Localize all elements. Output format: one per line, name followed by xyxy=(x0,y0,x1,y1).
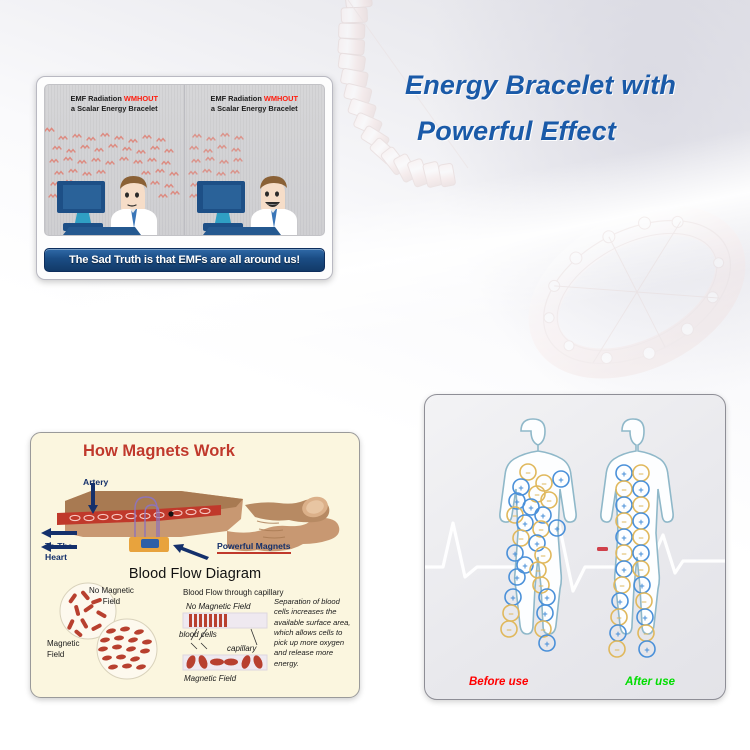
product-infographic: Energy Bracelet with Powerful Effect EMF… xyxy=(0,0,750,750)
svg-text:+: + xyxy=(621,533,626,543)
label-magnetic-field-circle: Magnetic Field xyxy=(47,639,79,660)
svg-text:−: − xyxy=(506,625,511,635)
emf-banner-text: The Sad Truth is that EMFs are all aroun… xyxy=(69,254,300,266)
emf-left-illustration xyxy=(45,131,185,235)
svg-text:+: + xyxy=(617,597,622,607)
emf-right-title-highlight: WMHOUT xyxy=(264,94,298,103)
svg-text:−: − xyxy=(638,501,643,511)
svg-text:−: − xyxy=(518,534,523,544)
label-magnetic-field-italic: Magnetic Field xyxy=(184,674,236,685)
emf-left-title-prefix: EMF Radiation xyxy=(71,94,124,103)
svg-text:+: + xyxy=(542,609,547,619)
emf-panel-right: EMF Radiation WMHOUT a Scalar Energy Bra… xyxy=(185,85,325,235)
svg-text:+: + xyxy=(639,581,644,591)
emf-banner: The Sad Truth is that EMFs are all aroun… xyxy=(44,248,325,272)
svg-text:−: − xyxy=(540,551,545,561)
svg-text:−: − xyxy=(540,625,545,635)
svg-text:+: + xyxy=(638,549,643,559)
svg-text:+: + xyxy=(528,503,533,513)
emf-comparison-card: EMF Radiation WMHOUT a Scalar Energy Bra… xyxy=(36,76,333,280)
svg-text:+: + xyxy=(518,483,523,493)
svg-text:−: − xyxy=(508,609,513,619)
label-artery: Artery xyxy=(83,477,108,488)
svg-text:+: + xyxy=(544,639,549,649)
office-worker-right xyxy=(251,176,297,235)
svg-text:+: + xyxy=(621,501,626,511)
emf-right-title-prefix: EMF Radiation xyxy=(211,94,264,103)
label-to-the-heart: To The Heart xyxy=(45,541,73,563)
svg-text:+: + xyxy=(621,469,626,479)
page-headline: Energy Bracelet with Powerful Effect xyxy=(405,62,735,154)
label-after-use: After use xyxy=(625,676,675,688)
svg-text:−: − xyxy=(541,479,546,489)
headline-line-2: Powerful Effect xyxy=(405,108,735,154)
label-no-magnetic-field-italic: No Magnetic Field xyxy=(186,602,250,613)
svg-text:−: − xyxy=(534,490,539,500)
svg-text:+: + xyxy=(644,645,649,655)
emf-right-title-line2: a Scalar Energy Bracelet xyxy=(211,104,298,113)
svg-text:+: + xyxy=(638,485,643,495)
emf-left-title-line2: a Scalar Energy Bracelet xyxy=(71,104,158,113)
label-heart-line2: Heart xyxy=(45,552,67,562)
svg-text:−: − xyxy=(619,581,624,591)
svg-text:+: + xyxy=(642,613,647,623)
svg-text:−: − xyxy=(638,565,643,575)
svg-text:−: − xyxy=(538,581,543,591)
svg-text:+: + xyxy=(514,497,519,507)
svg-text:+: + xyxy=(638,517,643,527)
emf-scene-container: EMF Radiation WMHOUT a Scalar Energy Bra… xyxy=(44,84,325,236)
svg-text:+: + xyxy=(522,561,527,571)
svg-text:+: + xyxy=(512,549,517,559)
svg-text:+: + xyxy=(621,565,626,575)
body-ion-illustration: −− ++ −+ −+ −+ +− +− ++ −+ −+ −+ +− +− −… xyxy=(425,395,726,700)
svg-text:−: − xyxy=(614,645,619,655)
emf-right-title: EMF Radiation WMHOUT a Scalar Energy Bra… xyxy=(185,94,325,114)
label-before-use: Before use xyxy=(469,676,528,688)
svg-text:−: − xyxy=(641,597,646,607)
svg-text:−: − xyxy=(621,517,626,527)
how-magnets-work-card: How Magnets Work xyxy=(30,432,360,698)
svg-text:+: + xyxy=(540,511,545,521)
svg-text:−: − xyxy=(535,566,540,576)
label-powerful-magnets: Powerful Magnets xyxy=(217,541,291,552)
svg-text:+: + xyxy=(510,593,515,603)
svg-text:+: + xyxy=(514,573,519,583)
label-heart-line1: To The xyxy=(45,541,73,551)
svg-text:−: − xyxy=(546,496,551,506)
svg-text:−: − xyxy=(621,485,626,495)
wrist-bracelet-marker xyxy=(597,547,608,551)
svg-text:+: + xyxy=(554,524,559,534)
svg-text:−: − xyxy=(512,511,517,521)
label-capillary: capillary xyxy=(227,644,256,655)
svg-text:−: − xyxy=(525,468,530,478)
magnets-paragraph: Separation of blood cells increases the … xyxy=(274,597,356,669)
svg-text:−: − xyxy=(638,469,643,479)
svg-text:−: − xyxy=(538,525,543,535)
emf-right-illustration xyxy=(185,131,325,235)
svg-text:−: − xyxy=(638,533,643,543)
svg-text:+: + xyxy=(615,629,620,639)
headline-line-1: Energy Bracelet with xyxy=(405,62,735,108)
svg-text:+: + xyxy=(544,593,549,603)
emf-panel-left: EMF Radiation WMHOUT a Scalar Energy Bra… xyxy=(45,85,185,235)
blood-flow-title: Blood Flow Diagram xyxy=(31,566,359,582)
svg-text:+: + xyxy=(522,519,527,529)
label-blood-flow-capillary: Blood Flow through capillary xyxy=(183,588,284,599)
bracelet-photo-right xyxy=(520,185,750,400)
emf-left-title: EMF Radiation WMHOUT a Scalar Energy Bra… xyxy=(45,94,184,114)
svg-text:−: − xyxy=(643,629,648,639)
label-blood-cells: blood cells xyxy=(179,630,217,641)
svg-text:+: + xyxy=(534,539,539,549)
svg-text:+: + xyxy=(558,475,563,485)
before-after-body-card: −− ++ −+ −+ −+ +− +− ++ −+ −+ −+ +− +− −… xyxy=(424,394,726,700)
emf-left-title-highlight: WMHOUT xyxy=(124,94,158,103)
svg-text:−: − xyxy=(621,549,626,559)
label-no-magnetic-field-circle: No Magnetic Field xyxy=(89,586,134,607)
svg-text:−: − xyxy=(616,613,621,623)
office-worker-left xyxy=(111,176,157,235)
